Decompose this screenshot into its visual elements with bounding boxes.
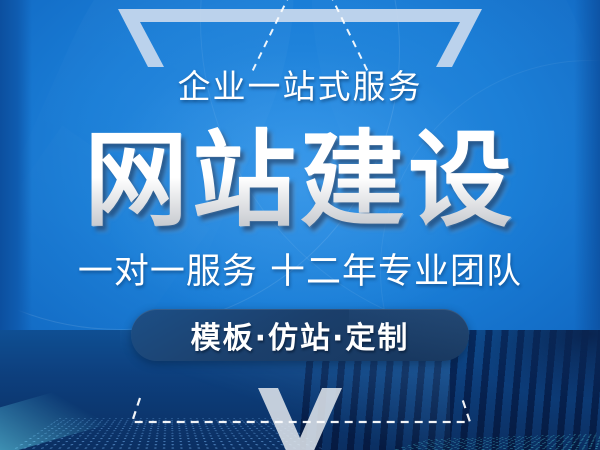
- service-badge-label: 模板·仿站·定制: [191, 313, 410, 357]
- page-title: 网站建设: [84, 121, 516, 239]
- banner-content: 企业一站式服务 网站建设 一对一服务 十二年专业团队 模板·仿站·定制: [0, 0, 600, 450]
- eyebrow-text: 企业一站式服务: [178, 67, 423, 107]
- subtitle-text: 一对一服务 十二年专业团队: [78, 251, 522, 293]
- promo-banner: 企业一站式服务 网站建设 一对一服务 十二年专业团队 模板·仿站·定制: [0, 0, 600, 450]
- service-badge[interactable]: 模板·仿站·定制: [131, 309, 469, 361]
